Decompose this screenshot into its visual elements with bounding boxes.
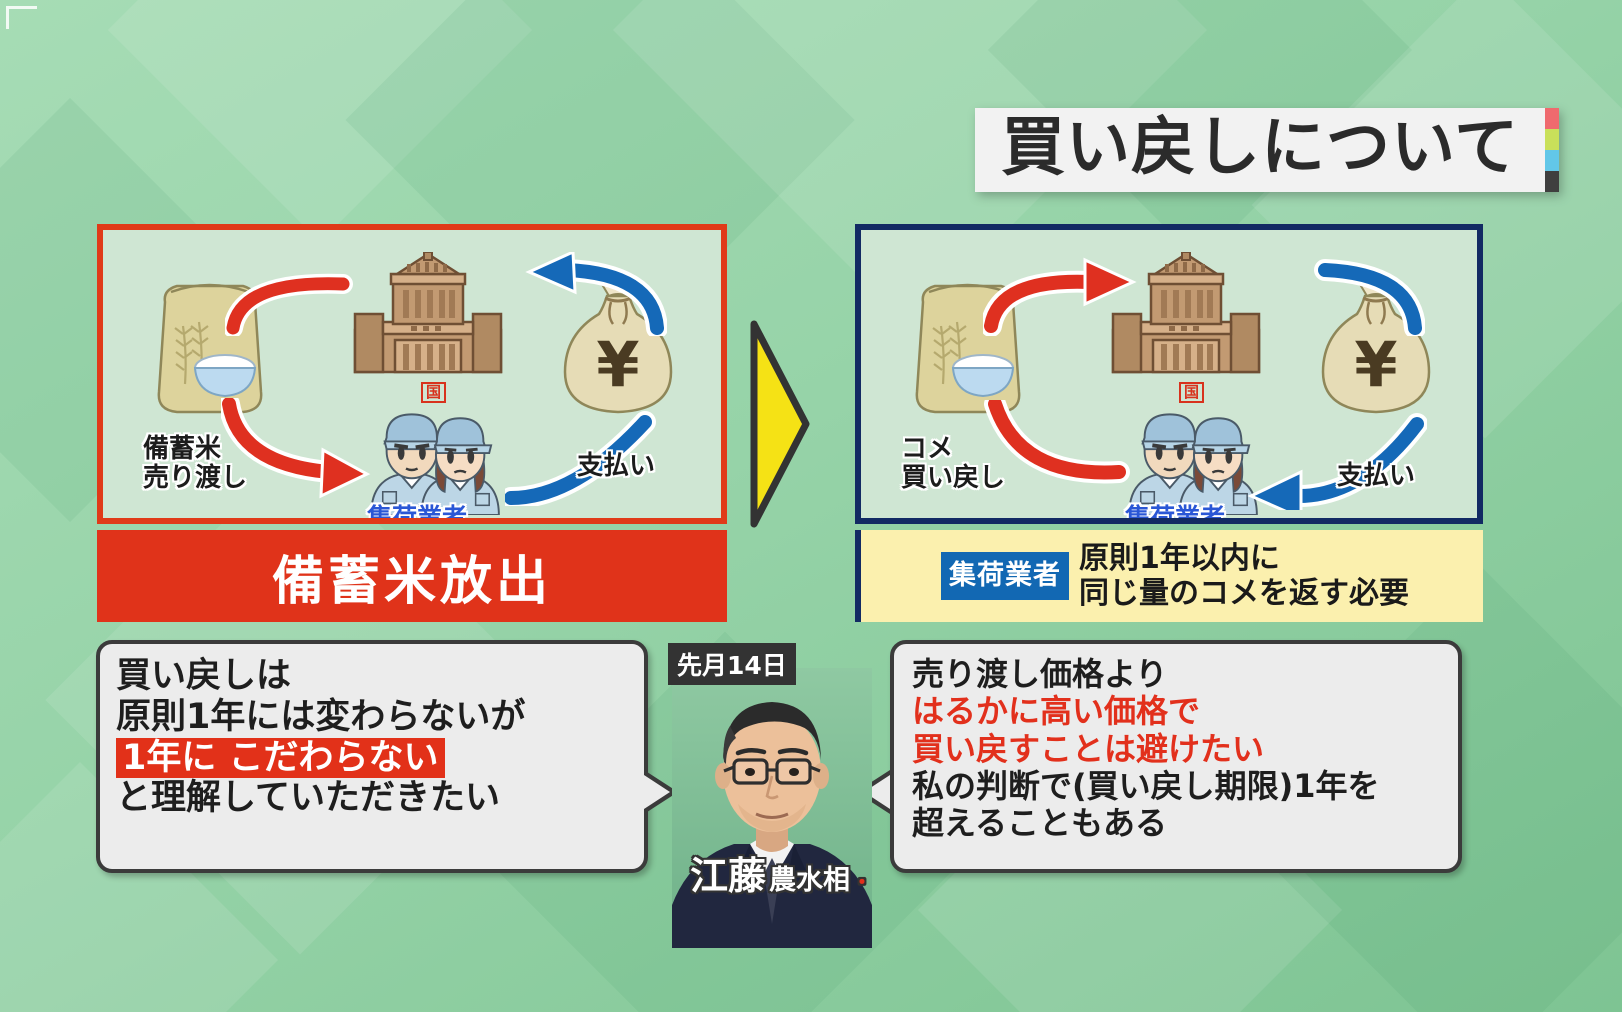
speaker-caption-dot: ・	[852, 866, 872, 895]
release-banner-label: 備蓄米放出	[272, 539, 552, 614]
quote-bubble-left: 買い戻しは 原則1年には変わらないが 1年に こだわらない と理解していただきた…	[96, 640, 648, 873]
payment-to-state-arrow-left	[507, 252, 667, 336]
speaker-name: 江藤	[690, 845, 766, 900]
speaker-caption: 江藤 農水相 ・	[690, 845, 872, 900]
workers-label-left: 集荷業者	[367, 498, 467, 518]
quote-bubble-right: 売り渡し価格より はるかに高い価格で 買い戻すことは避けたい 私の判断で(買い戻…	[890, 640, 1462, 873]
speaker-portrait	[672, 668, 872, 948]
quote-right-line-1: 売り渡し価格より	[912, 656, 1440, 693]
buyback-rice-arrow-right	[979, 400, 1169, 504]
transition-arrow-icon	[748, 318, 810, 530]
svg-text:¥: ¥	[1354, 328, 1397, 401]
page-title: 買い戻しについて	[975, 108, 1559, 192]
buyback-flow-label-right: コメ 買い戻し	[901, 435, 1005, 493]
quote-left-line-3: 1年に こだわらない	[116, 738, 445, 779]
corner-marker	[6, 6, 37, 29]
buyback-condition-text: 原則1年以内に 同じ量のコメを返す必要	[1079, 541, 1409, 612]
panel-buyback: 国 ¥	[855, 224, 1483, 524]
quote-left-line-4: と理解していただきたい	[116, 778, 628, 819]
svg-text:¥: ¥	[596, 328, 639, 401]
payment-label-right: 支払い	[1337, 462, 1415, 491]
quote-left-line-2: 原則1年には変わらないが	[116, 697, 628, 738]
quote-right-line-5: 超えることもある	[912, 805, 1440, 842]
release-banner: 備蓄米放出	[97, 530, 727, 622]
quote-left-line-1: 買い戻しは	[116, 656, 628, 697]
rice-to-workers-arrow-left	[221, 398, 411, 508]
news-graphic-stage: 買い戻しについて	[0, 0, 1622, 1012]
buyback-condition-banner: 集荷業者 原則1年以内に 同じ量のコメを返す必要	[855, 530, 1483, 622]
payment-to-workers-arrow-right	[1231, 410, 1427, 510]
workers-label-right: 集荷業者	[1125, 498, 1225, 518]
quote-right-line-2: はるかに高い価格で	[912, 693, 1440, 730]
quote-right-line-3: 買い戻すことは避けたい	[912, 731, 1440, 768]
quote-tail-left-fill	[644, 775, 670, 809]
date-badge: 先月14日	[668, 643, 796, 685]
rice-flow-label-left: 備蓄米 売り渡し	[143, 435, 247, 493]
title-accent-bars	[1545, 108, 1559, 192]
page-title-text: 買い戻しについて	[1001, 116, 1519, 180]
speaker-title: 農水相	[769, 858, 850, 897]
rice-to-state-arrow-right	[983, 256, 1153, 336]
payment-to-state-arrow-right	[1265, 252, 1425, 336]
quote-right-line-4: 私の判断で(買い戻し期限)1年を	[912, 768, 1440, 805]
panel-release: 国 ¥	[97, 224, 727, 524]
payment-label-left: 支払い	[577, 452, 655, 481]
rice-to-state-arrow-left	[225, 260, 385, 336]
collector-badge: 集荷業者	[941, 552, 1069, 600]
